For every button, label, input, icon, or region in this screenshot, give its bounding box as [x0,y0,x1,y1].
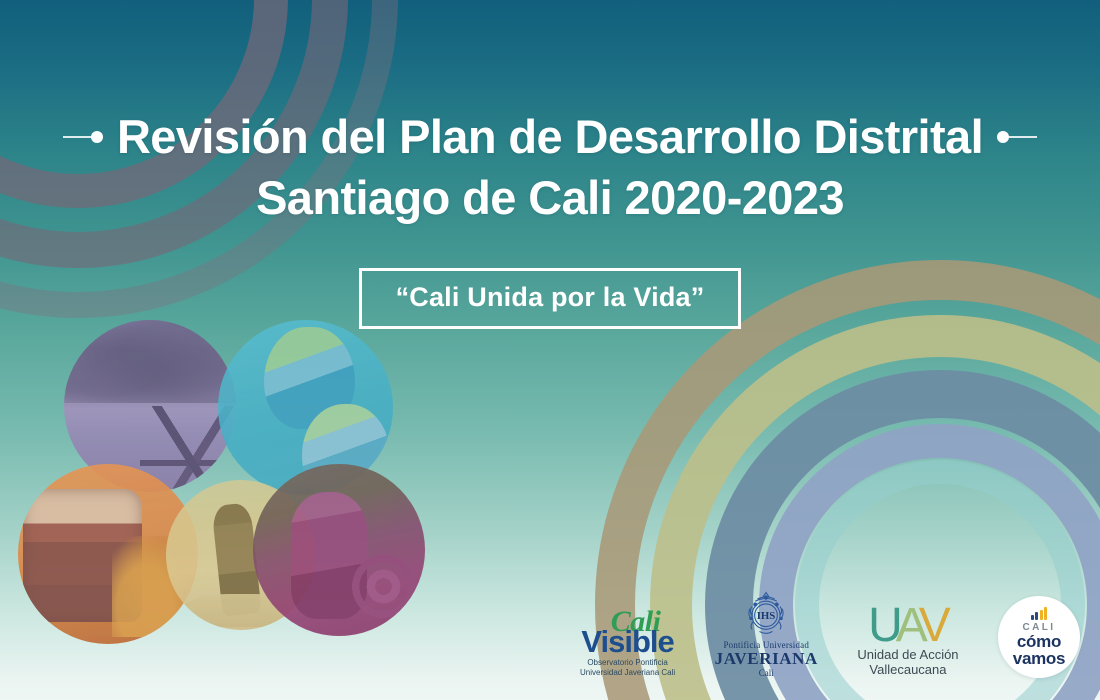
javeriana-crest-icon: IHS [739,585,793,639]
cali-visible-subtitle-line2: Universidad Javeriana Cali [580,668,675,678]
uav-subtitle-line2: Vallecaucana [869,662,946,678]
ccv-word-vamos: vamos [1013,651,1065,667]
svg-text:IHS: IHS [757,610,776,622]
cali-visible-word-visible: Visible [581,628,673,655]
logo-cali-visible: Cali Visible Observatorio Pontificia Uni… [580,610,675,678]
bullet-line-left-icon [63,136,91,138]
javeriana-line3: Cali [759,668,774,678]
title-block: Revisión del Plan de Desarrollo Distrita… [0,108,1100,227]
photo-circle-gato-sculpture [253,464,425,636]
logo-bar: Cali Visible Observatorio Pontificia Uni… [580,580,1080,678]
bullet-dot-left-icon [91,131,103,143]
page-title-line1: Revisión del Plan de Desarrollo Distrita… [117,108,983,165]
uav-subtitle-line1: Unidad de Acción [857,647,958,663]
subtitle-wrapper: “Cali Unida por la Vida” [0,268,1100,329]
logo-universidad-javeriana: IHS Pontificia Universidad JAVERIANA Cal… [715,585,818,678]
uav-letter-v: V [919,606,948,645]
photo-collage [18,312,468,700]
bullet-right-decoration [997,131,1037,143]
page-title-line2: Santiago de Cali 2020-2023 [0,169,1100,226]
logo-uav: U A V Unidad de Acción Vallecaucana [857,606,958,678]
presentation-slide: Revisión del Plan de Desarrollo Distrita… [0,0,1100,700]
javeriana-line2: JAVERIANA [715,650,818,668]
bullet-left-decoration [63,131,103,143]
bar-chart-icon [1031,607,1048,620]
uav-letters: U A V [868,606,948,645]
cali-visible-subtitle-line1: Observatorio Pontificia [587,658,667,668]
slogan-box: “Cali Unida por la Vida” [359,268,742,329]
photo-tint-magenta [253,464,425,636]
logo-cali-como-vamos: CALI cómo vamos [998,596,1080,678]
bullet-line-right-icon [1009,136,1037,138]
bullet-dot-right-icon [997,131,1009,143]
cali-como-vamos-badge: CALI cómo vamos [998,596,1080,678]
